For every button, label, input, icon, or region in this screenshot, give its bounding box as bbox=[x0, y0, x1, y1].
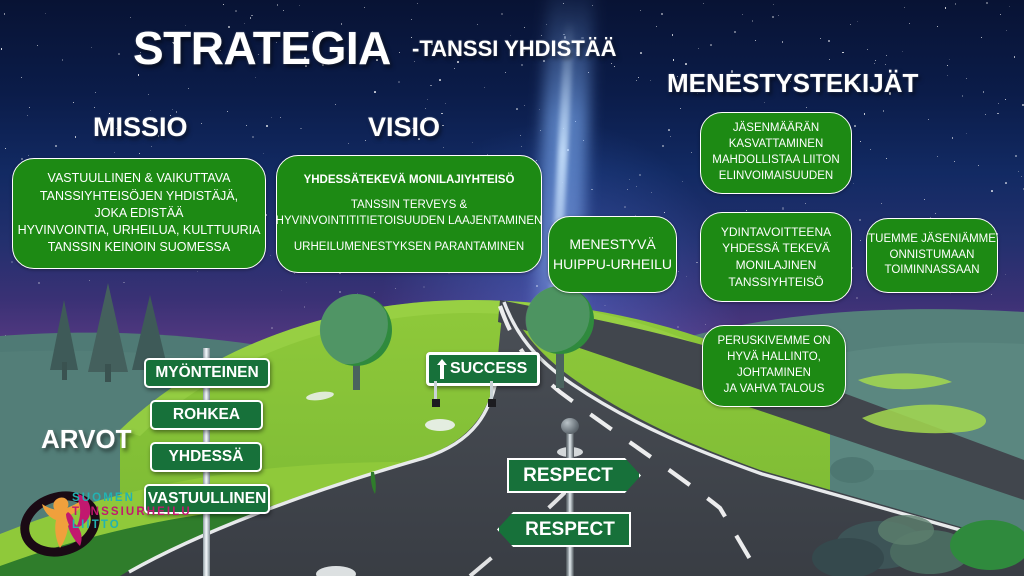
logo-line-3: LIITTO bbox=[72, 519, 192, 533]
billboard-leg bbox=[490, 381, 493, 401]
heading-visio: VISIO bbox=[368, 112, 440, 143]
sf-line: ELINVOIMAISUUDEN bbox=[719, 169, 833, 185]
respect-sign-right[interactable]: RESPECT bbox=[507, 458, 641, 493]
sf-line: TANSSIYHTEISÖ bbox=[728, 274, 823, 291]
missio-box: VASTUULLINEN & VAIKUTTAVA TANSSIYHTEISÖJ… bbox=[12, 158, 266, 269]
sf-line: YHDESSÄ TEKEVÄ bbox=[722, 240, 830, 257]
success-sign-label: SUCCESS bbox=[450, 360, 527, 378]
sf-line: KASVATTAMINEN bbox=[729, 137, 824, 153]
sf-line: MAHDOLLISTAA LIITON bbox=[712, 153, 839, 169]
heading-menestystekijat: MENESTYSTEKIJÄT bbox=[667, 68, 918, 99]
success-factor-box-jasenmaara: JÄSENMÄÄRÄN KASVATTAMINEN MAHDOLLISTAA L… bbox=[700, 112, 852, 194]
page-title: STRATEGIA bbox=[133, 21, 391, 75]
success-factor-box-huippu-urheilu: MENESTYVÄ HUIPPU-URHEILU bbox=[548, 216, 677, 293]
success-factor-box-peruskivi: PERUSKIVEMME ON HYVÄ HALLINTO, JOHTAMINE… bbox=[702, 325, 846, 407]
visio-line: HYVINVOINTITITIETOISUUDEN LAAJENTAMINEN bbox=[276, 214, 543, 230]
visio-box: YHDESSÄTEKEVÄ MONILAJIYHTEISÖ TANSSIN TE… bbox=[276, 155, 542, 273]
value-sign-rohkea[interactable]: ROHKEA bbox=[150, 400, 263, 430]
sf-line: TOIMINNASSAAN bbox=[885, 263, 980, 279]
missio-line: HYVINVOINTIA, URHEILUA, KULTTUURIA bbox=[18, 222, 261, 239]
missio-line: TANSSIYHTEISÖJEN YHDISTÄJÄ, bbox=[40, 188, 238, 205]
logo-line-1: SUOMEN bbox=[72, 492, 192, 506]
visio-line: TANSSIN TERVEYS & bbox=[351, 198, 467, 214]
success-factor-box-tuemme-jasenia: TUEMME JÄSENIÄMME ONNISTUMAAN TOIMINNASS… bbox=[866, 218, 998, 293]
missio-line: VASTUULLINEN & VAIKUTTAVA bbox=[48, 170, 231, 187]
missio-line: JOKA EDISTÄÄ bbox=[95, 205, 184, 222]
heading-arvot: ARVOT bbox=[41, 424, 132, 455]
sf-line: JA VAHVA TALOUS bbox=[724, 382, 825, 398]
sf-line: JÄSENMÄÄRÄN bbox=[733, 121, 819, 137]
value-sign-yhdessa[interactable]: YHDESSÄ bbox=[150, 442, 262, 472]
page-subtitle: -TANSSI YHDISTÄÄ bbox=[412, 36, 617, 62]
heading-missio: MISSIO bbox=[93, 112, 188, 143]
strategy-slide: STRATEGIA -TANSSI YHDISTÄÄ MISSIO VISIO … bbox=[0, 0, 1024, 576]
sf-line: TUEMME JÄSENIÄMME bbox=[868, 232, 996, 248]
sf-line: HYVÄ HALLINTO, bbox=[727, 350, 821, 366]
sf-line: ONNISTUMAAN bbox=[890, 248, 975, 264]
value-sign-myonteinen[interactable]: MYÖNTEINEN bbox=[144, 358, 270, 388]
visio-heading: YHDESSÄTEKEVÄ MONILAJIYHTEISÖ bbox=[304, 173, 515, 189]
billboard-foot bbox=[432, 399, 440, 407]
logo-line-2: TANSSIURHEILU bbox=[72, 506, 192, 520]
visio-line-last: URHEILUMENESTYKSEN PARANTAMINEN bbox=[294, 240, 524, 256]
sf-line: MENESTYVÄ bbox=[569, 235, 655, 254]
respect-sign-left[interactable]: RESPECT bbox=[497, 512, 631, 547]
sf-line: HUIPPU-URHEILU bbox=[553, 255, 672, 274]
sf-line: YDINTAVOITTEENA bbox=[721, 224, 831, 241]
sf-line: MONILAJINEN bbox=[736, 257, 817, 274]
signpost-cap bbox=[561, 418, 579, 434]
up-arrow-icon bbox=[435, 359, 448, 379]
sf-line: PERUSKIVEMME ON bbox=[717, 334, 830, 350]
logo-wordmark: SUOMEN TANSSIURHEILU LIITTO bbox=[72, 492, 192, 533]
missio-line: TANSSIN KEINOIN SUOMESSA bbox=[48, 239, 230, 256]
sf-line: JOHTAMINEN bbox=[737, 366, 811, 382]
respect-signpost-pole bbox=[566, 425, 574, 576]
billboard-leg bbox=[434, 381, 437, 401]
success-factor-box-ydintavoite: YDINTAVOITTEENA YHDESSÄ TEKEVÄ MONILAJIN… bbox=[700, 212, 852, 302]
success-billboard[interactable]: SUCCESS bbox=[426, 352, 540, 386]
billboard-foot bbox=[488, 399, 496, 407]
